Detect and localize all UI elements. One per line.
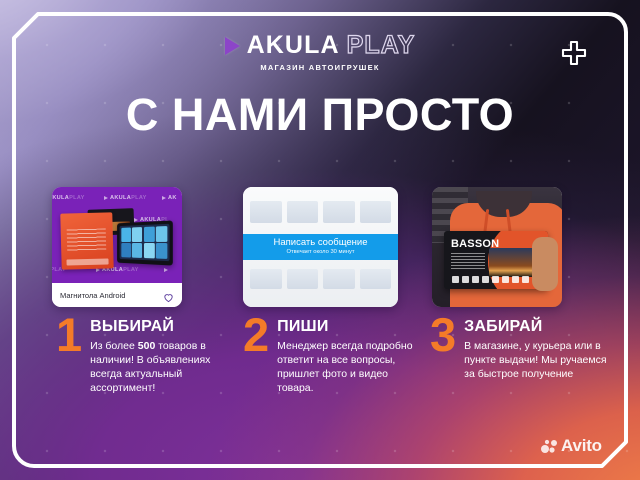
logo-main-text: AKULA	[247, 33, 340, 58]
step-number: 3	[430, 316, 456, 382]
watermark: AKULAPLAY	[52, 195, 85, 201]
card-row: AKULAPLAY AKULAPLAY AK AKULAPLAY AKULAPL…	[0, 187, 640, 307]
reply-time-note: Отвечает около 30 минут	[287, 250, 355, 256]
avito-label: Avito	[561, 437, 602, 454]
card-listing[interactable]: AKULAPLAY AKULAPLAY AK AKULAPLAY AKULAPL…	[52, 187, 182, 307]
page-title: С НАМИ ПРОСТО	[0, 92, 640, 137]
steps-row: 1 ВЫБИРАЙ Из более 500 товаров в наличии…	[0, 316, 640, 416]
write-message-label: Написать сообщение	[273, 238, 367, 248]
brand-tagline: МАГАЗИН АВТОИГРУШЕК	[0, 63, 640, 72]
promo-banner: AKULA PLAY МАГАЗИН АВТОИГРУШЕК С НАМИ ПР…	[0, 0, 640, 480]
step-description: Менеджер всегда подробно ответит на все …	[277, 340, 425, 395]
step-title: ПИШИ	[277, 319, 425, 335]
heart-icon[interactable]	[163, 290, 174, 301]
step-title: ЗАБИРАЙ	[464, 319, 620, 335]
watermark: AK	[162, 195, 177, 201]
brand-logo: AKULA PLAY МАГАЗИН АВТОИГРУШЕК	[0, 33, 640, 72]
avito-watermark: Avito	[541, 437, 602, 454]
step-item: 1 ВЫБИРАЙ Из более 500 товаров в наличии…	[56, 316, 238, 395]
step-description: Из более 500 товаров в наличии! В объявл…	[90, 340, 238, 395]
step-number: 2	[243, 316, 269, 395]
watermark: AKULAPLAY	[104, 195, 147, 201]
logo-accent-text: PLAY	[347, 33, 416, 58]
step-item: 2 ПИШИ Менеджер всегда подробно ответит …	[243, 316, 425, 395]
listing-title: Магнитола Android	[60, 291, 125, 300]
chat-thumb-row-bottom	[243, 269, 398, 289]
listing-photo: AKULAPLAY AKULAPLAY AK AKULAPLAY AKULAPL…	[52, 187, 182, 283]
step-description: В магазине, у курьера или в пункте выдач…	[464, 340, 620, 382]
product-screen	[117, 220, 173, 265]
person-hand	[532, 237, 558, 291]
card-pickup[interactable]: BASSONO	[432, 187, 562, 307]
write-message-button[interactable]: Написать сообщение Отвечает около 30 мин…	[243, 234, 398, 260]
avito-dots-icon	[541, 439, 558, 453]
chat-thumb-row-top	[243, 201, 398, 223]
step-number: 1	[56, 316, 82, 395]
product-orange-box	[60, 212, 113, 269]
step-title: ВЫБИРАЙ	[90, 319, 238, 335]
card-chat[interactable]: Написать сообщение Отвечает около 30 мин…	[243, 187, 398, 307]
step-item: 3 ЗАБИРАЙ В магазине, у курьера или в пу…	[430, 316, 620, 382]
play-triangle-icon	[225, 37, 240, 55]
watermark	[164, 267, 170, 273]
listing-caption-bar: Магнитола Android	[52, 283, 182, 307]
